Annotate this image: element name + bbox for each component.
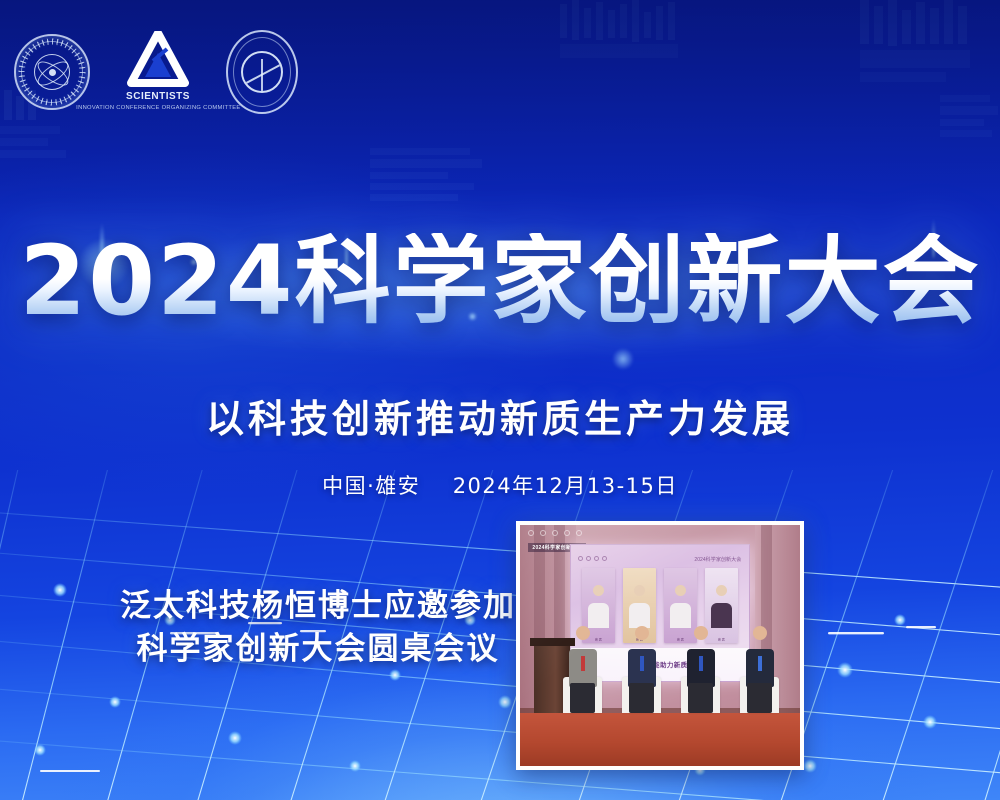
city-skyline-texture-right [860, 0, 1000, 150]
portrait-body [588, 603, 609, 628]
portrait-body [629, 603, 650, 628]
data-block-texture-center [370, 148, 490, 218]
dateline-location: 中国·雄安 [322, 474, 420, 498]
photo-header-icon-row [528, 530, 582, 536]
triangle-mark-logo: SCIENTISTS INNOVATION CONFERENCE ORGANIZ… [118, 31, 198, 113]
panelist-head [694, 626, 708, 640]
header-icon-4 [564, 530, 570, 536]
page-title: 2024科学家创新大会 [19, 233, 980, 329]
subtitle: 以科技创新推动新质生产力发展 [0, 388, 1000, 443]
caption-line-1: 泛太科技杨恒博士应邀参加 [118, 585, 518, 628]
oval-emblem-icon [241, 51, 283, 93]
screen-icon-3 [594, 556, 599, 561]
screen-icon-row [578, 556, 607, 561]
stage-floor [520, 713, 800, 766]
city-skyline-texture [560, 0, 740, 60]
atom-icon [34, 54, 70, 90]
triangle-icon [127, 31, 189, 87]
panelist [736, 626, 783, 713]
header-icon-1 [528, 530, 534, 536]
dateline-date: 2024年12月13-15日 [453, 474, 678, 498]
circular-academy-seal-logo [14, 34, 90, 110]
portrait-body [711, 603, 732, 628]
header-icon-2 [540, 530, 546, 536]
panelist-legs [629, 683, 653, 712]
header-icon-3 [552, 530, 558, 536]
triangle-logo-sublabel: INNOVATION CONFERENCE ORGANIZING COMMITT… [76, 104, 240, 110]
panelist [559, 626, 606, 713]
triangle-logo-label: SCIENTISTS [126, 91, 190, 102]
panelist [677, 626, 724, 713]
conference-poster: SCIENTISTS INNOVATION CONFERENCE ORGANIZ… [0, 0, 1000, 800]
screen-icon-2 [586, 556, 591, 561]
panelist [618, 626, 665, 713]
panelist-row [559, 626, 783, 713]
panelist-head [635, 626, 649, 640]
portrait-head [716, 585, 727, 596]
panelist-badge [699, 656, 703, 672]
main-title-wrap: 2024科学家创新大会 [0, 233, 1000, 329]
portrait-head [593, 585, 604, 596]
photo-content: 2024科学家创新大会 2024科学家创新大会 嘉 宾 [520, 525, 800, 766]
screen-icon-4 [602, 556, 607, 561]
panelist-badge [640, 656, 644, 672]
screen-header: 2024科学家创新大会 [578, 552, 741, 564]
portrait-body [670, 603, 691, 628]
data-block-texture-far-right [940, 95, 1000, 155]
portrait-head [675, 585, 686, 596]
panelist-legs [570, 683, 594, 712]
portrait-head [634, 585, 645, 596]
dateline: 中国·雄安 2024年12月13-15日 [0, 470, 1000, 500]
panelist-badge [581, 656, 585, 672]
panelist-legs [688, 683, 712, 712]
light-streak-sparkle-d [612, 348, 634, 370]
panelist-head [753, 626, 767, 640]
header-icon-5 [576, 530, 582, 536]
oval-institute-seal-logo [226, 30, 298, 114]
panelist-head [576, 626, 590, 640]
screen-title: 2024科学家创新大会 [695, 554, 742, 562]
screen-icon-1 [578, 556, 583, 561]
roundtable-panel-photo[interactable]: 2024科学家创新大会 2024科学家创新大会 嘉 宾 [516, 521, 804, 770]
panelist-badge [758, 656, 762, 672]
caption-line-2: 科学家创新大会圆桌会议 [118, 628, 518, 671]
logo-row: SCIENTISTS INNOVATION CONFERENCE ORGANIZ… [14, 30, 298, 114]
caption: 泛太科技杨恒博士应邀参加 科学家创新大会圆桌会议 [118, 585, 518, 671]
panelist-legs [747, 683, 771, 712]
